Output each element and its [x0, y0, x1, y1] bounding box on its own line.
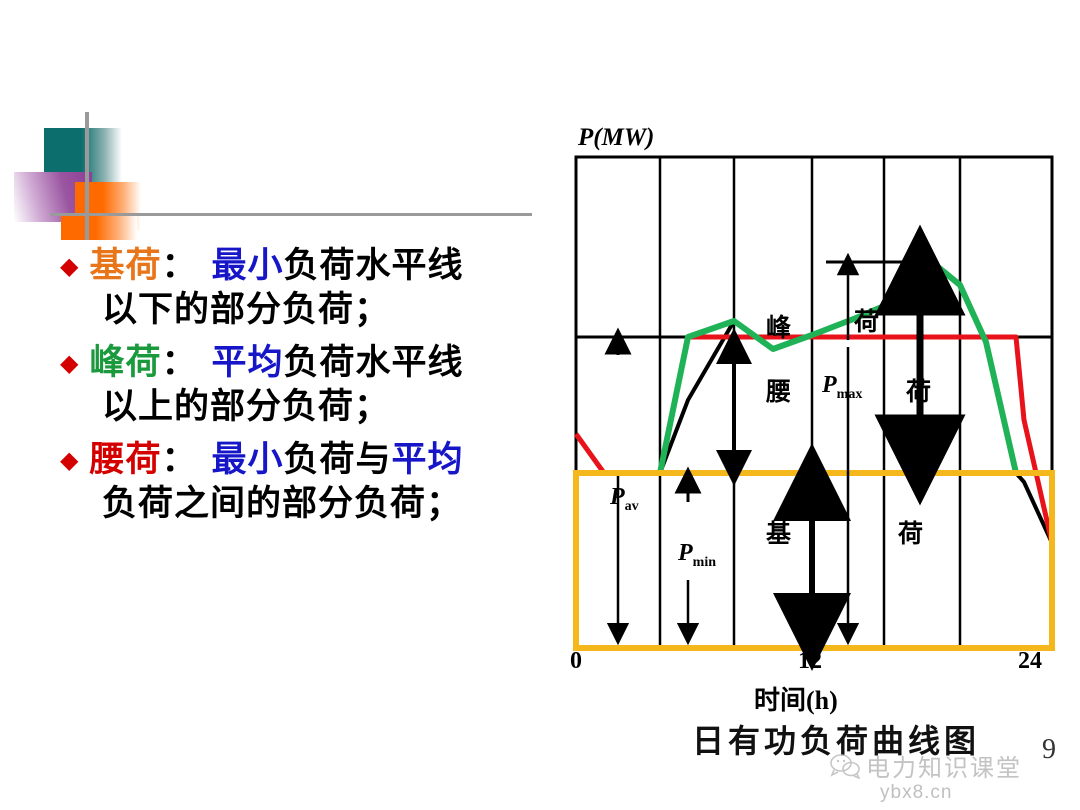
page-number: 9: [1042, 734, 1056, 766]
x-tick-0: 0: [570, 648, 582, 675]
pmax-label: Pmax: [822, 372, 862, 403]
bullet-item-peak-line2: 以上的部分负荷；: [60, 389, 560, 424]
bullet-rest-base: 负荷水平线: [284, 246, 464, 285]
bullet-highlight-min: 最小: [212, 246, 284, 285]
bullet-line2-peak: 以上的部分负荷；: [102, 389, 390, 424]
pav-label: Pav: [610, 484, 639, 515]
bullet-highlight-min2: 最小: [212, 440, 284, 479]
figure-caption: 日有功负荷曲线图: [692, 716, 980, 762]
bullet-rest-waist: 负荷与: [284, 440, 392, 479]
load-curve-green: [660, 253, 1016, 473]
bullet-term-peak: 峰荷: [89, 343, 161, 382]
waist-load-label-char1: 腰: [766, 372, 791, 408]
bullet-item-base-line2: 以下的部分负荷；: [60, 292, 560, 327]
peak-load-label-char1: 峰: [766, 308, 791, 344]
bullet-line2-waist: 负荷之间的部分负荷；: [102, 486, 462, 521]
bullet-line2-base: 以下的部分负荷；: [102, 292, 390, 327]
pmin-label: Pmin: [678, 540, 716, 571]
x-tick-24: 24: [1018, 648, 1042, 675]
decorative-band: [0, 100, 560, 240]
deco-horizontal-rule: [50, 213, 532, 216]
bullet-item-peak: ◆ 峰荷：平均负荷水平线: [60, 345, 560, 383]
bullet-list: ◆ 基荷：最小负荷水平线 以下的部分负荷； ◆ 峰荷：平均负荷水平线 以上的部分…: [60, 248, 560, 539]
chart-svg: [556, 110, 1056, 710]
bullet-term-base: 基荷: [89, 246, 161, 285]
bullet-colon: ：: [161, 440, 197, 479]
bullet-term-waist: 腰荷: [89, 440, 161, 479]
x-axis-title: 时间(h): [754, 680, 838, 717]
base-load-label-char1: 基: [766, 514, 791, 550]
diamond-bullet-icon: ◆: [60, 345, 79, 383]
deco-orange-rect-lower: [61, 215, 137, 240]
bullet-item-waist: ◆ 腰荷：最小负荷与平均: [60, 442, 560, 480]
y-axis-label: P(MW): [578, 124, 654, 152]
daily-load-curve-chart: P(MW): [556, 110, 1056, 710]
bullet-item-waist-line2: 负荷之间的部分负荷；: [60, 486, 560, 521]
bullet-highlight-avg: 平均: [212, 343, 284, 382]
bullet-colon: ：: [161, 246, 197, 285]
bullet-item-base: ◆ 基荷：最小负荷水平线: [60, 248, 560, 286]
diamond-bullet-icon: ◆: [60, 248, 79, 286]
waist-load-label-char2: 荷: [906, 372, 931, 408]
bullet-highlight-avg2: 平均: [392, 440, 464, 479]
deco-vertical-rule: [85, 112, 89, 240]
x-tick-12: 12: [798, 648, 822, 675]
bullet-colon: ：: [161, 343, 197, 382]
base-load-label-char2: 荷: [898, 514, 923, 550]
peak-load-label-char2: 荷: [854, 302, 879, 338]
diamond-bullet-icon: ◆: [60, 442, 79, 480]
slide-canvas: ◆ 基荷：最小负荷水平线 以下的部分负荷； ◆ 峰荷：平均负荷水平线 以上的部分…: [0, 0, 1080, 810]
watermark-site: ybx8.cn: [880, 782, 952, 804]
bullet-rest-peak: 负荷水平线: [284, 343, 464, 382]
